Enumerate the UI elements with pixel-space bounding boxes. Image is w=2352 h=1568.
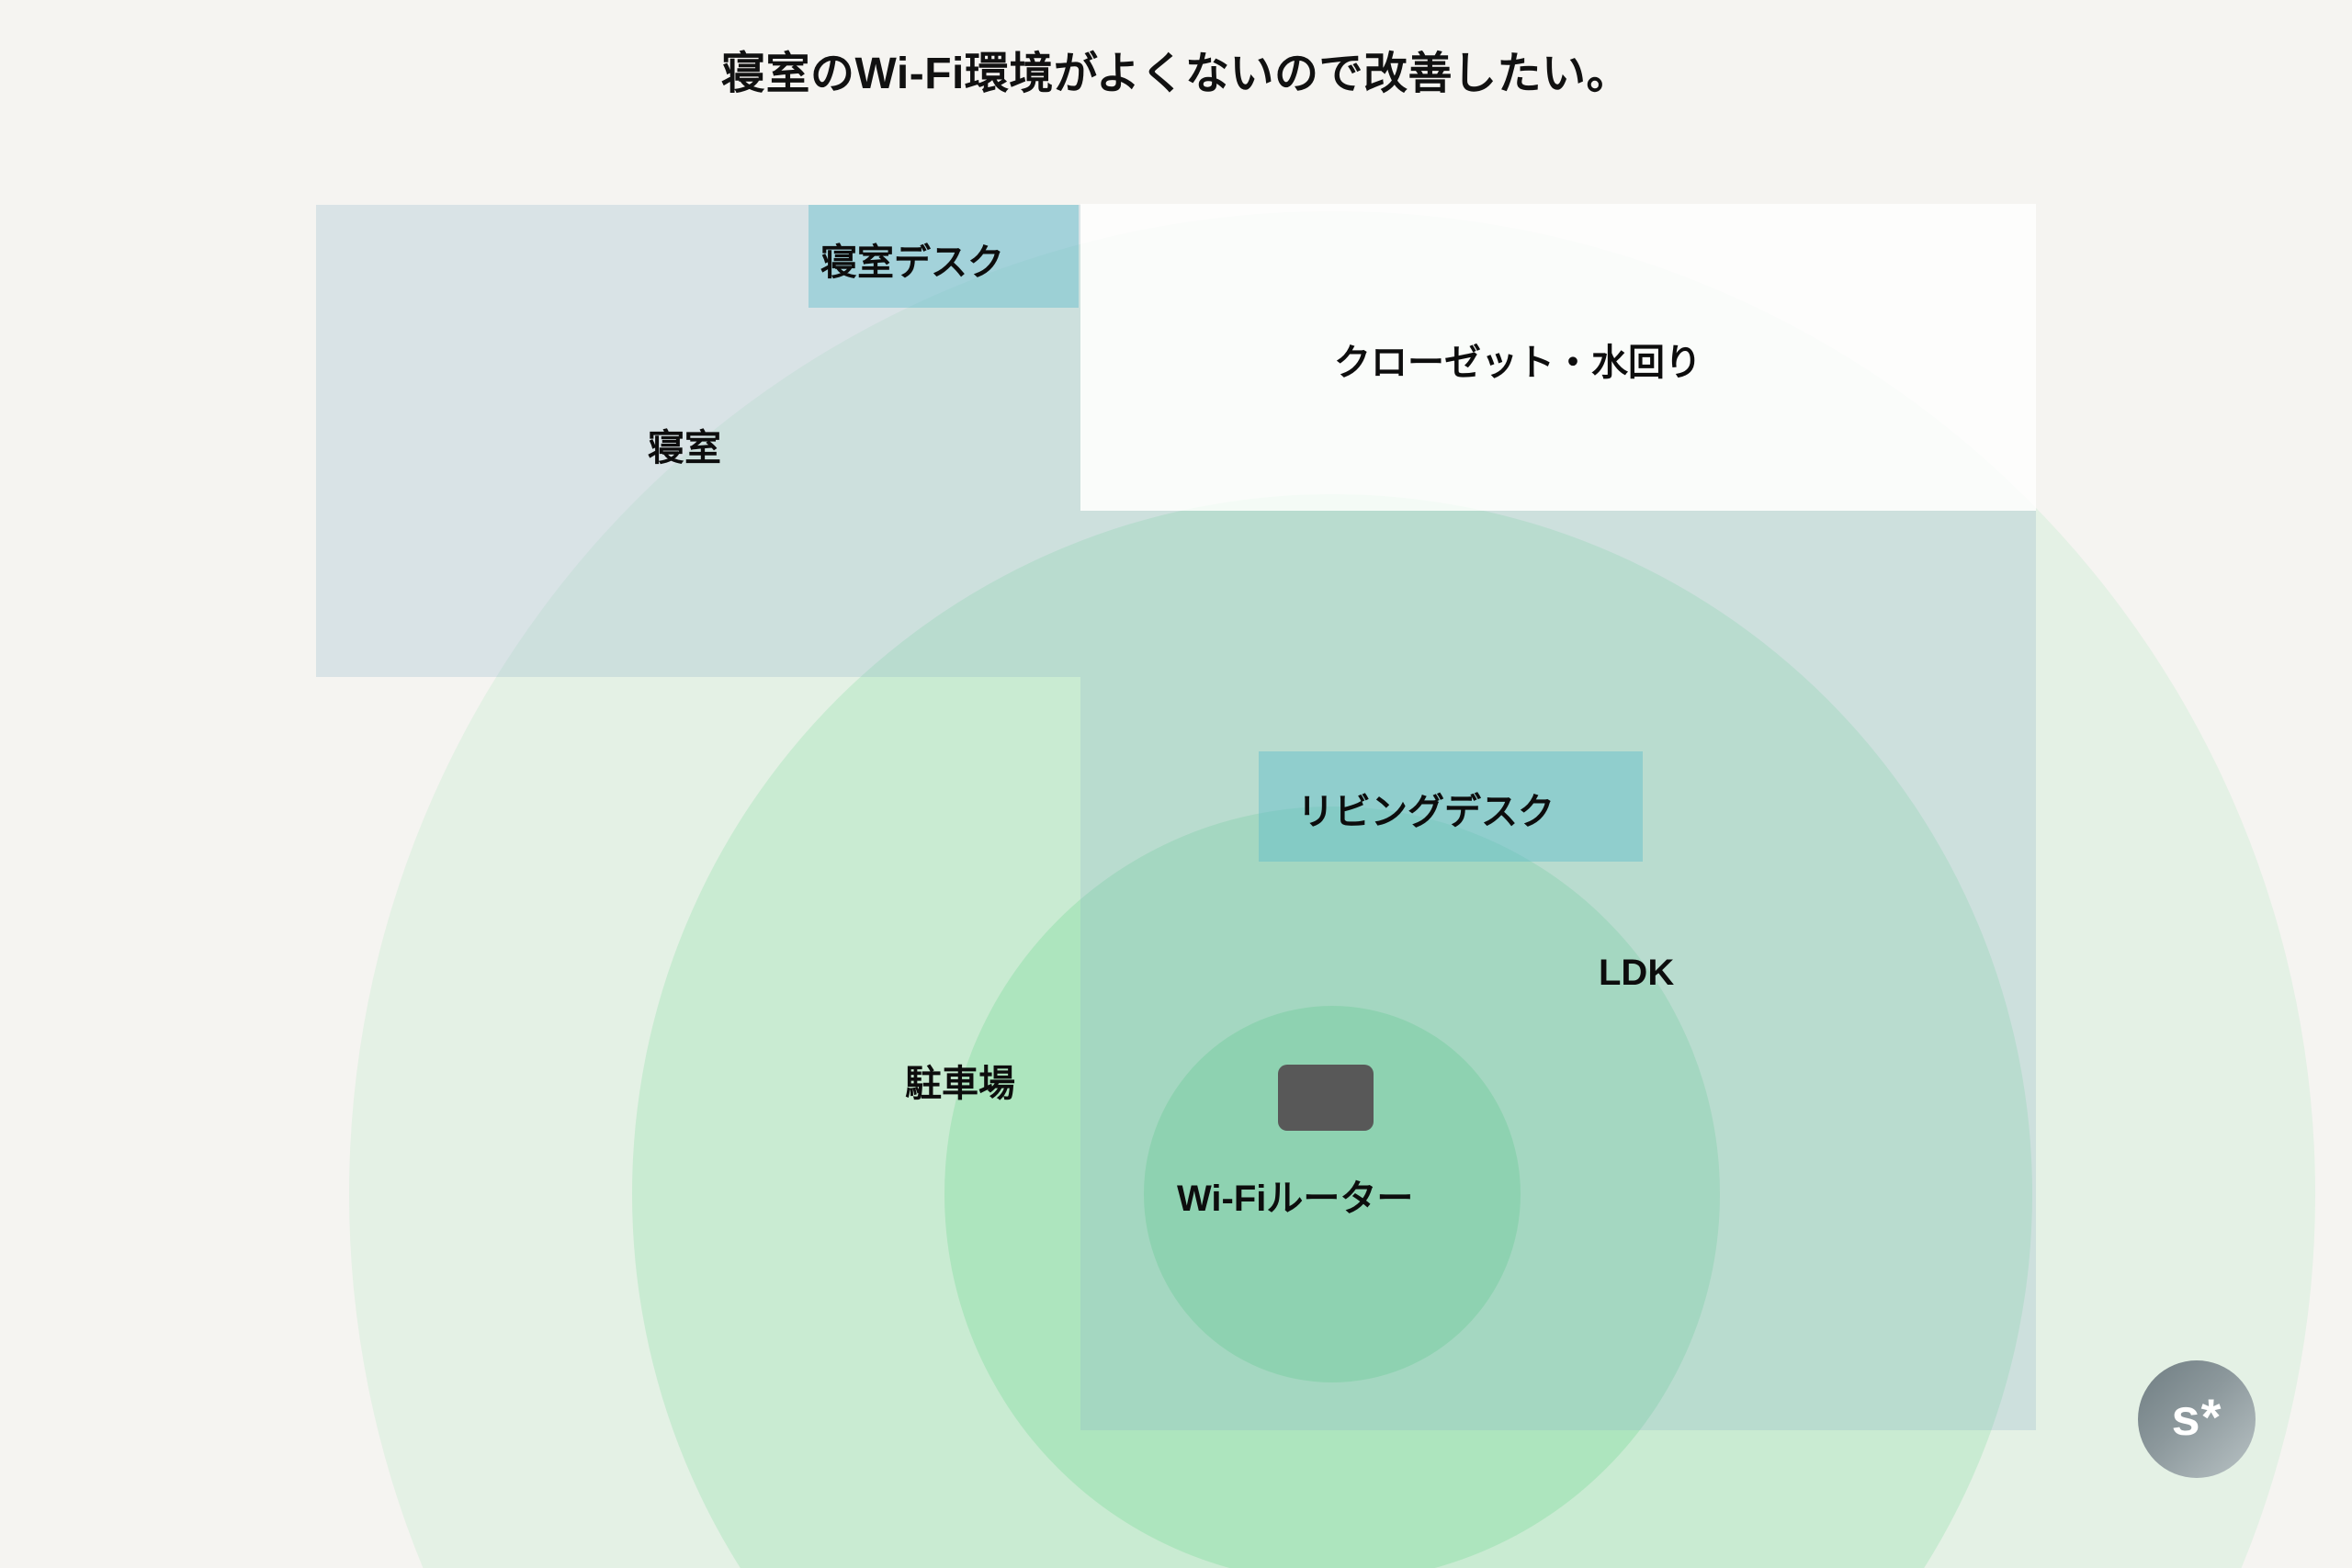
- page-title: 寝室のWi-Fi環境がよくないので改善したい。: [0, 48, 2352, 101]
- brand-badge-text: s*: [2172, 1392, 2222, 1443]
- router-box-icon: [1278, 1065, 1374, 1131]
- room-ldk: [1080, 511, 2036, 1430]
- label-living-desk: リビングデスク: [1297, 782, 1555, 835]
- floorplan-canvas: 寝室のWi-Fi環境がよくないので改善したい。 寝室デスク クローゼット・水回り…: [0, 0, 2352, 1568]
- label-closet: クローゼット・水回り: [1334, 333, 1702, 386]
- label-wifi-router: Wi-Fiルーター: [1177, 1168, 1413, 1222]
- label-parking: 駐車場: [905, 1054, 1015, 1107]
- label-bedroom: 寝室: [648, 418, 721, 471]
- brand-badge: s*: [2138, 1360, 2256, 1478]
- label-bedroom-desk: 寝室デスク: [820, 232, 1004, 286]
- label-ldk: LDK: [1599, 953, 1674, 994]
